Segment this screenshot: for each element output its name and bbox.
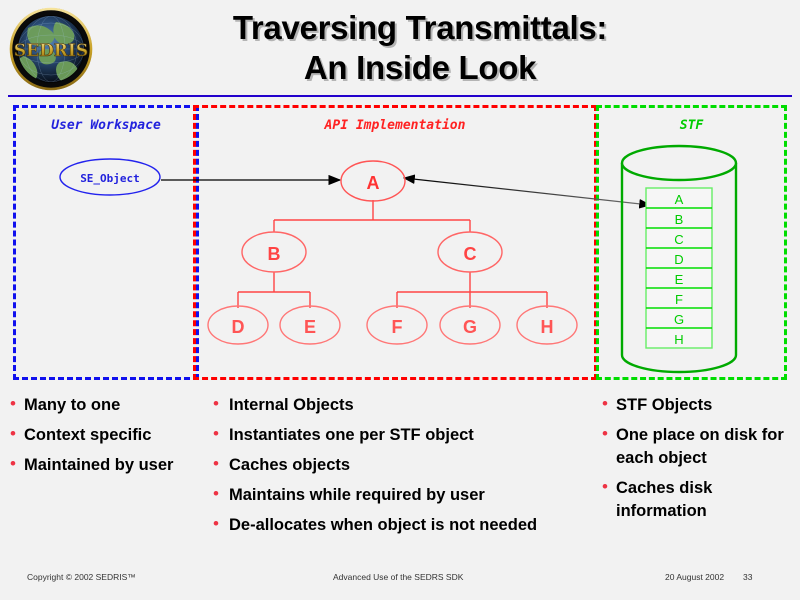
bullet-dot-icon: • (2, 424, 24, 444)
bullet-label: Many to one (24, 394, 120, 417)
bullet-label: Instantiates one per STF object (229, 424, 474, 447)
bullet-column-stf: • STF Objects • One place on disk for ea… (594, 394, 794, 530)
region-label-stf: STF (599, 118, 784, 133)
title-line-2: An Inside Look (110, 48, 730, 88)
footer-copyright: Copyright © 2002 SEDRIS™ (27, 572, 136, 582)
region-label-api-implementation: API Implementation (196, 118, 594, 133)
bullet-dot-icon: • (203, 514, 229, 534)
list-item: • Maintained by user (2, 454, 202, 477)
list-item: • Context specific (2, 424, 202, 447)
bullet-dot-icon: • (203, 424, 229, 444)
bullet-label: Maintained by user (24, 454, 173, 477)
list-item: • Internal Objects (203, 394, 593, 417)
bullet-dot-icon: • (203, 454, 229, 474)
list-item: • STF Objects (594, 394, 794, 417)
bullet-dot-icon: • (594, 477, 616, 497)
list-item: • Caches disk information (594, 477, 794, 523)
logo-wordmark: SEDRIS (14, 41, 88, 61)
list-item: • Maintains while required by user (203, 484, 593, 507)
bullet-label: De-allocates when object is not needed (229, 514, 537, 537)
list-item: • Instantiates one per STF object (203, 424, 593, 447)
title-line-1: Traversing Transmittals: (233, 9, 607, 46)
page-title: Traversing Transmittals: An Inside Look (110, 8, 730, 88)
region-stf: STF (596, 105, 787, 380)
footer-page-number: 33 (743, 572, 752, 582)
bullet-label: STF Objects (616, 394, 712, 417)
slide-canvas: SEDRIS Traversing Transmittals: An Insid… (0, 0, 800, 600)
bullet-dot-icon: • (594, 424, 616, 444)
bullet-label: Internal Objects (229, 394, 354, 417)
title-divider (8, 95, 792, 97)
bullet-dot-icon: • (203, 394, 229, 414)
bullet-label: Caches objects (229, 454, 350, 477)
sedris-globe-logo: SEDRIS (8, 6, 94, 92)
footer-deck-title: Advanced Use of the SEDRS SDK (333, 572, 463, 582)
bullet-label: One place on disk for each object (616, 424, 794, 470)
bullet-label: Maintains while required by user (229, 484, 485, 507)
bullet-dot-icon: • (203, 484, 229, 504)
bullet-column-api-implementation: • Internal Objects • Instantiates one pe… (203, 394, 593, 544)
region-label-user-workspace: User Workspace (16, 118, 196, 133)
list-item: • Caches objects (203, 454, 593, 477)
slide-footer: Copyright © 2002 SEDRIS™ Advanced Use of… (0, 566, 800, 596)
bullet-dot-icon: • (2, 454, 24, 474)
bullet-label: Context specific (24, 424, 151, 447)
bullet-dot-icon: • (2, 394, 24, 414)
region-user-workspace: User Workspace (13, 105, 199, 380)
list-item: • De-allocates when object is not needed (203, 514, 593, 537)
list-item: • One place on disk for each object (594, 424, 794, 470)
bullet-label: Caches disk information (616, 477, 794, 523)
bullet-column-user-workspace: • Many to one • Context specific • Maint… (2, 394, 202, 484)
bullet-dot-icon: • (594, 394, 616, 414)
list-item: • Many to one (2, 394, 202, 417)
footer-date: 20 August 2002 (665, 572, 724, 582)
region-api-implementation: API Implementation (193, 105, 597, 380)
